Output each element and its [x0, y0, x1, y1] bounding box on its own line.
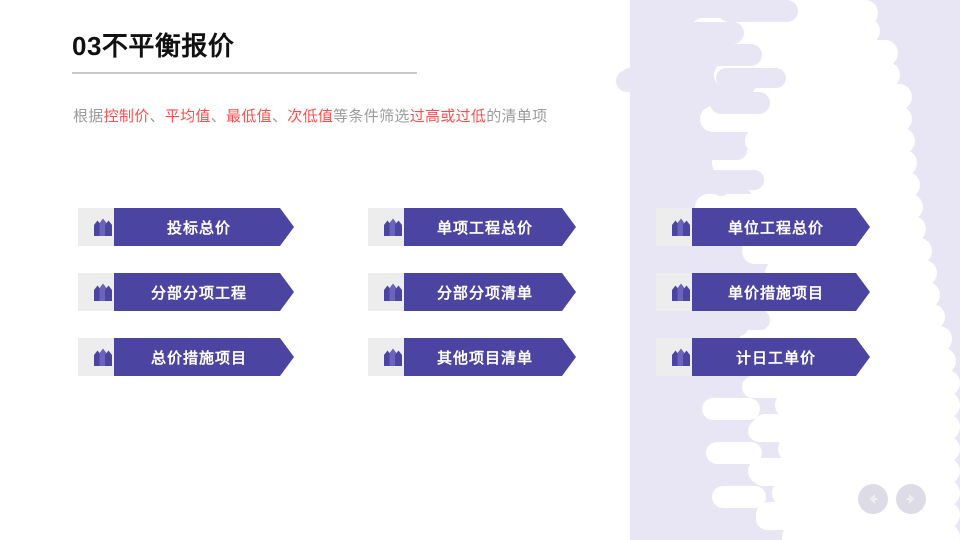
subtitle-plain-run: 根据 [73, 108, 104, 125]
banner-label: 分部分项清单 [427, 282, 547, 303]
subtitle-highlight-run: 过高或过低 [410, 108, 487, 125]
banner-body-chevron: 分部分项工程 [114, 273, 294, 311]
banner-item[interactable]: 分部分项工程 [78, 273, 294, 311]
banner-item[interactable]: 单价措施项目 [656, 273, 870, 311]
banner-body-chevron: 单价措施项目 [692, 273, 870, 311]
building-icon [668, 217, 694, 237]
prev-slide-button[interactable] [858, 484, 888, 514]
page-title: 03不平衡报价 [72, 28, 417, 64]
subtitle-plain-run: 等条件筛选 [333, 108, 410, 125]
banner-label: 单价措施项目 [718, 282, 838, 303]
banner-label: 计日工单价 [726, 347, 830, 368]
slide-canvas: 03不平衡报价 根据控制价、平均值、最低值、次低值等条件筛选过高或过低的清单项 … [0, 0, 960, 540]
subtitle-plain-run: 、 [272, 108, 287, 125]
building-icon [668, 347, 694, 367]
banner-body-chevron: 投标总价 [114, 208, 294, 246]
banner-label: 其他项目清单 [427, 347, 547, 368]
banner-body-chevron: 分部分项清单 [404, 273, 576, 311]
banner-item[interactable]: 分部分项清单 [368, 273, 576, 311]
building-icon [90, 347, 116, 367]
arrow-left-icon [864, 490, 882, 508]
building-icon [90, 217, 116, 237]
banner-grid: 投标总价 单项工程总价 单位工程总价 分部分项工程 分部分项清单 单价措施项目 [78, 208, 878, 403]
subtitle-plain-run: 、 [211, 108, 226, 125]
subtitle-plain-run: 、 [150, 108, 165, 125]
title-underline-rule [72, 72, 417, 74]
building-icon [90, 282, 116, 302]
subtitle-highlight-run: 次低值 [287, 108, 333, 125]
building-icon [668, 282, 694, 302]
subtitle-highlight-run: 控制价 [104, 108, 150, 125]
slide-header: 03不平衡报价 [72, 28, 417, 74]
building-icon [380, 282, 406, 302]
slide-navigation [858, 484, 926, 514]
building-icon [380, 347, 406, 367]
banner-label: 单位工程总价 [718, 217, 838, 238]
banner-row: 总价措施项目 其他项目清单 计日工单价 [78, 338, 878, 403]
banner-item[interactable]: 总价措施项目 [78, 338, 294, 376]
banner-row: 分部分项工程 分部分项清单 单价措施项目 [78, 273, 878, 338]
banner-item[interactable]: 投标总价 [78, 208, 294, 246]
subtitle-highlight-run: 平均值 [165, 108, 211, 125]
banner-item[interactable]: 单项工程总价 [368, 208, 576, 246]
banner-item[interactable]: 单位工程总价 [656, 208, 870, 246]
banner-item[interactable]: 计日工单价 [656, 338, 870, 376]
banner-item[interactable]: 其他项目清单 [368, 338, 576, 376]
banner-body-chevron: 计日工单价 [692, 338, 870, 376]
banner-row: 投标总价 单项工程总价 单位工程总价 [78, 208, 878, 273]
banner-body-chevron: 单位工程总价 [692, 208, 870, 246]
banner-label: 投标总价 [157, 217, 245, 238]
subtitle-highlight-run: 最低值 [226, 108, 272, 125]
subtitle-text: 根据控制价、平均值、最低值、次低值等条件筛选过高或过低的清单项 [73, 106, 547, 128]
banner-label: 单项工程总价 [427, 217, 547, 238]
building-icon [380, 217, 406, 237]
banner-body-chevron: 单项工程总价 [404, 208, 576, 246]
arrow-right-icon [902, 490, 920, 508]
banner-label: 分部分项工程 [141, 282, 261, 303]
banner-body-chevron: 其他项目清单 [404, 338, 576, 376]
banner-body-chevron: 总价措施项目 [114, 338, 294, 376]
banner-label: 总价措施项目 [141, 347, 261, 368]
subtitle-plain-run: 的清单项 [486, 108, 547, 125]
next-slide-button[interactable] [896, 484, 926, 514]
